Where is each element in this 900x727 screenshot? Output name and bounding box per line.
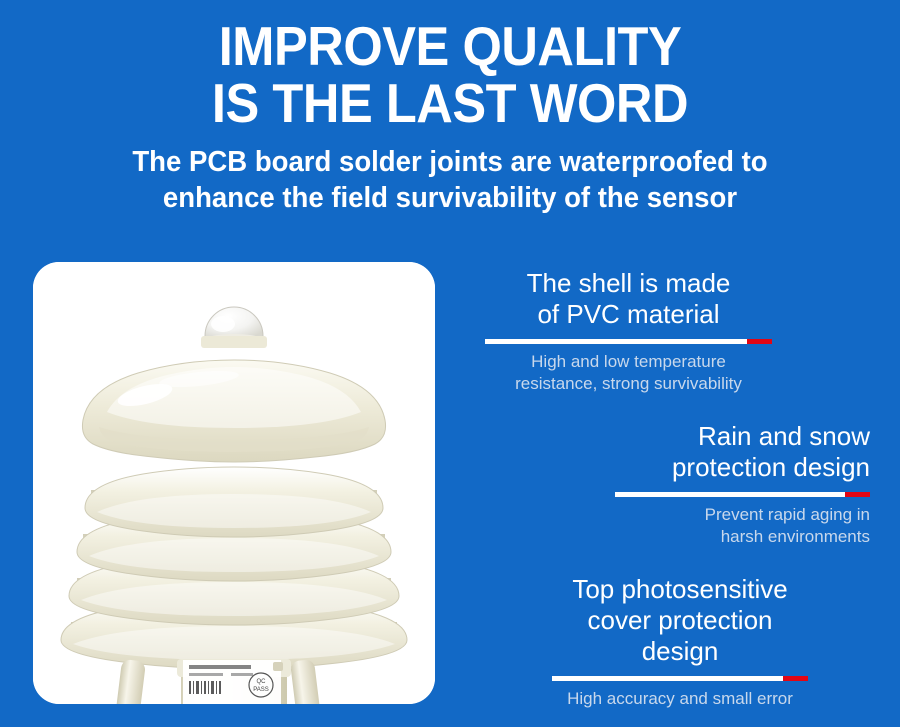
divider-accent (747, 339, 772, 344)
feature-description: High and low temperature resistance, str… (485, 351, 772, 395)
feature-list: The shell is made of PVC material High a… (455, 268, 885, 716)
subheadline-line-1: The PCB board solder joints are waterpro… (23, 144, 878, 180)
promo-banner: IMPROVE QUALITY IS THE LAST WORD The PCB… (0, 0, 900, 727)
svg-text:PASS: PASS (253, 687, 269, 693)
feature-description: Prevent rapid aging in harsh environment… (615, 504, 870, 548)
headline-line-1: IMPROVE QUALITY (36, 18, 864, 75)
feature-item-photosensitive-cover: Top photosensitive cover protection desi… (552, 574, 808, 710)
headline-line-2: IS THE LAST WORD (36, 75, 864, 132)
feature-divider (615, 492, 870, 497)
divider-accent (783, 676, 808, 681)
banner-header: IMPROVE QUALITY IS THE LAST WORD The PCB… (0, 0, 900, 216)
subheadline-line-2: enhance the field survivability of the s… (23, 180, 878, 216)
feature-item-shell-material: The shell is made of PVC material High a… (485, 268, 772, 395)
divider-accent (845, 492, 870, 497)
feature-title: Rain and snow protection design (615, 421, 870, 483)
weather-sensor-illustration: QC PASS (33, 262, 435, 704)
feature-title: The shell is made of PVC material (485, 268, 772, 330)
divider-line (615, 492, 845, 497)
svg-text:QC: QC (257, 679, 267, 685)
divider-line (485, 339, 747, 344)
louvre-plate-2 (85, 467, 383, 537)
feature-title: Top photosensitive cover protection desi… (552, 574, 808, 667)
feature-divider (552, 676, 808, 681)
feature-description: High accuracy and small error (552, 688, 808, 710)
divider-line (552, 676, 783, 681)
sensor-body: QC PASS (177, 659, 291, 704)
product-label: QC PASS (183, 660, 281, 704)
product-image-card: QC PASS (33, 262, 435, 704)
feature-item-rain-snow: Rain and snow protection design Prevent … (615, 421, 870, 548)
subheadline: The PCB board solder joints are waterpro… (0, 144, 900, 216)
feature-divider (485, 339, 772, 344)
product-photo: QC PASS (33, 262, 435, 704)
